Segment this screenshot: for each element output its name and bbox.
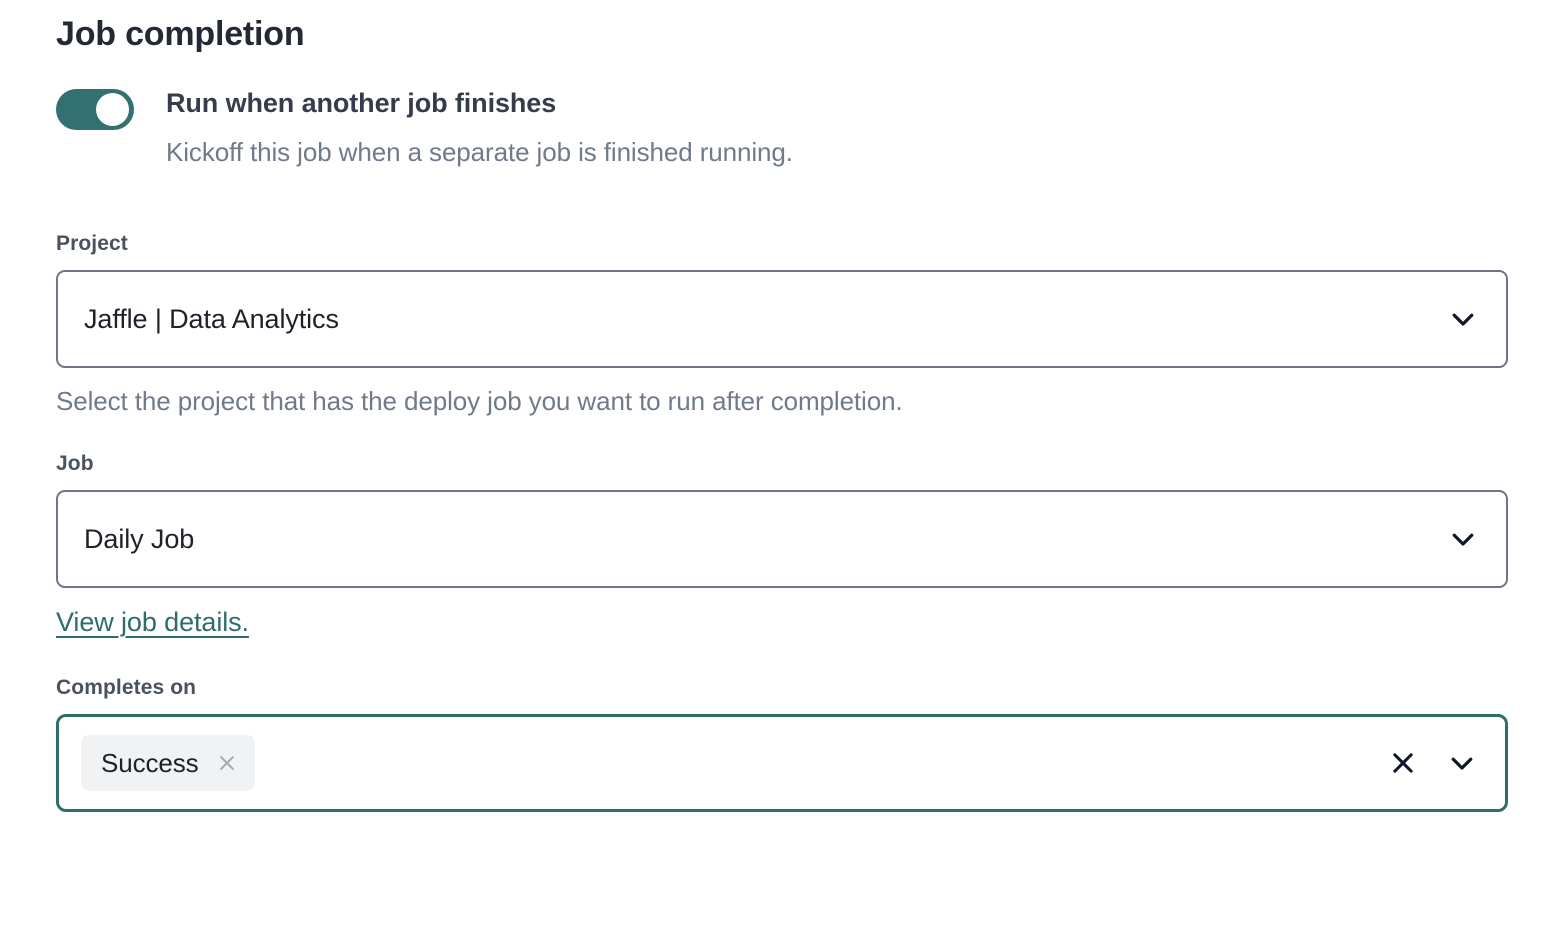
close-icon[interactable] <box>1389 749 1417 777</box>
close-icon[interactable] <box>217 753 237 773</box>
project-selected-value: Jaffle | Data Analytics <box>84 302 339 336</box>
chevron-down-icon[interactable] <box>1448 524 1478 554</box>
view-job-details-link[interactable]: View job details. <box>56 605 249 639</box>
job-completion-settings-panel: Job completion Run when another job fini… <box>0 0 1564 936</box>
toggle-text-block: Run when another job finishes Kickoff th… <box>166 86 793 169</box>
run-when-another-job-finishes-toggle[interactable] <box>56 89 134 130</box>
completes-on-label: Completes on <box>56 675 1508 701</box>
chevron-down-icon[interactable] <box>1448 304 1478 334</box>
tag-success: Success <box>81 735 255 791</box>
completes-on-field-group: Completes on Success <box>56 675 1508 812</box>
run-when-another-job-finishes-row: Run when another job finishes Kickoff th… <box>56 86 1508 169</box>
job-select[interactable]: Daily Job <box>56 490 1508 588</box>
toggle-description: Kickoff this job when a separate job is … <box>166 135 793 169</box>
job-selected-value: Daily Job <box>84 522 194 556</box>
job-select-controls <box>1448 492 1478 586</box>
toggle-knob <box>96 93 129 126</box>
chevron-down-icon[interactable] <box>1447 748 1477 778</box>
job-label: Job <box>56 451 1508 477</box>
completes-on-controls <box>1389 717 1477 809</box>
project-field-group: Project Jaffle | Data Analytics Select t… <box>56 231 1508 418</box>
job-field-group: Job Daily Job View job details. <box>56 451 1508 639</box>
project-label: Project <box>56 231 1508 257</box>
completes-on-multiselect[interactable]: Success <box>56 714 1508 812</box>
project-help-text: Select the project that has the deploy j… <box>56 384 1508 418</box>
project-select-controls <box>1448 272 1478 366</box>
page-title: Job completion <box>56 0 1508 56</box>
toggle-label: Run when another job finishes <box>166 86 793 120</box>
project-select[interactable]: Jaffle | Data Analytics <box>56 270 1508 368</box>
tag-label: Success <box>101 748 199 778</box>
